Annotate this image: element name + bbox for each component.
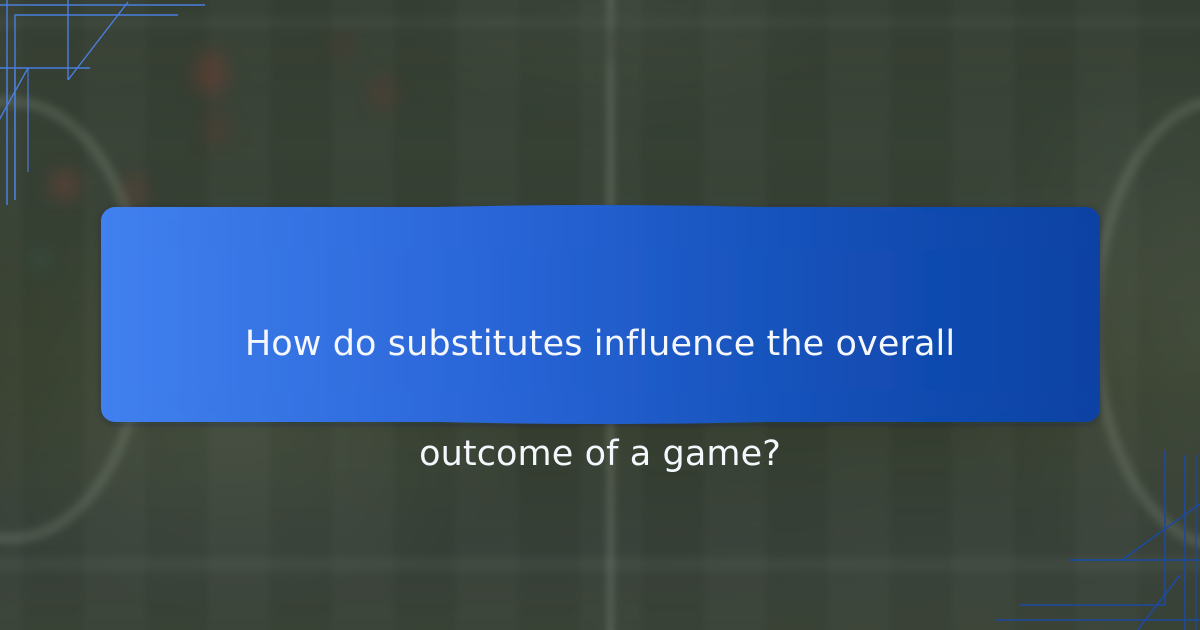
question-text: How do substitutes influence the overall… [140,262,1060,482]
question-card-canvas: How do substitutes influence the overall… [0,0,1200,630]
question-banner: How do substitutes influence the overall… [0,0,1200,630]
question-line-1: How do substitutes influence the overall [245,324,955,364]
question-line-2: outcome of a game? [419,434,781,474]
